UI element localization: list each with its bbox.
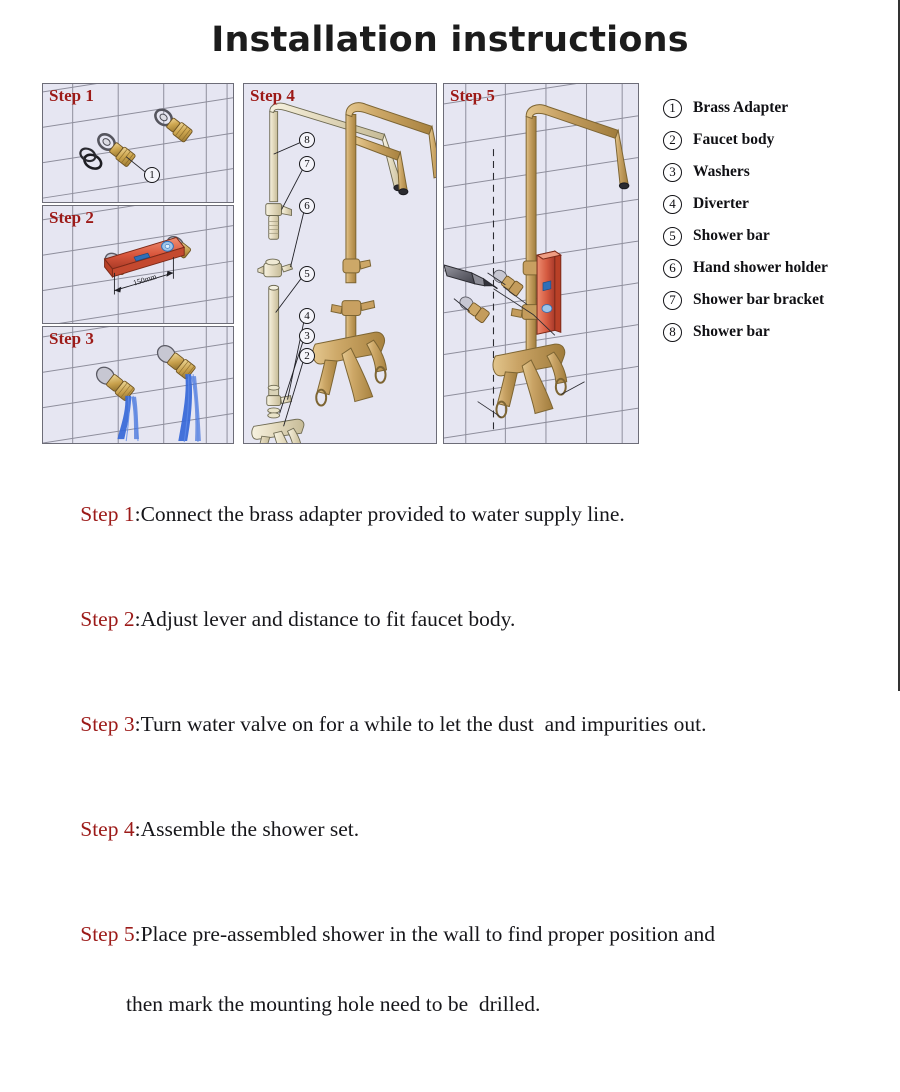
legend-label-6: Hand shower holder bbox=[693, 259, 828, 277]
callout-number-8: 8 bbox=[299, 132, 315, 148]
step-key-3: Step 3 bbox=[80, 712, 134, 736]
legend-item-5: 5 Shower bar bbox=[663, 220, 893, 252]
legend-number-3: 3 bbox=[663, 163, 682, 182]
step3-panel-label: Step 3 bbox=[49, 329, 94, 349]
legend-label-3: Washers bbox=[693, 163, 750, 181]
diagram-panel-step5: Step 5 bbox=[443, 83, 639, 444]
legend-item-2: 2 Faucet body bbox=[663, 124, 893, 156]
callout-number-7: 7 bbox=[299, 156, 315, 172]
legend-item-3: 3 Washers bbox=[663, 156, 893, 188]
diagram-panel-step4: Step 4 8 7 6 5 4 3 2 bbox=[243, 83, 437, 444]
legend-number-6: 6 bbox=[663, 259, 682, 278]
diagram-panel-step3: Step 3 bbox=[42, 326, 234, 444]
dimension-label: 150mm bbox=[132, 272, 158, 288]
page-title: Installation instructions bbox=[0, 20, 900, 60]
callout-number-4: 4 bbox=[299, 308, 315, 324]
legend-label-8: Shower bar bbox=[693, 323, 770, 341]
step-body-1: Connect the brass adapter provided to wa… bbox=[141, 502, 625, 526]
step-key-4: Step 4 bbox=[80, 817, 134, 841]
legend-item-8: 8 Shower bar bbox=[663, 316, 893, 348]
step4-panel-label: Step 4 bbox=[250, 86, 295, 106]
step-body-5: Place pre-assembled shower in the wall t… bbox=[141, 922, 715, 946]
step5-illustration bbox=[444, 84, 638, 443]
legend-number-1: 1 bbox=[663, 99, 682, 118]
step-instructions-list: Step 1:Connect the brass adapter provide… bbox=[48, 462, 868, 1092]
step-line-5: Step 5:Place pre-assembled shower in the… bbox=[48, 882, 868, 1092]
step5-panel-label: Step 5 bbox=[450, 86, 495, 106]
step4-illustration bbox=[244, 84, 436, 443]
step-key-2: Step 2 bbox=[80, 607, 134, 631]
step-line-4: Step 4:Assemble the shower set. bbox=[48, 777, 868, 882]
legend-number-5: 5 bbox=[663, 227, 682, 246]
diagram-panel-step2: 150mm Step 2 bbox=[42, 205, 234, 324]
callout-number-5: 5 bbox=[299, 266, 315, 282]
legend-number-4: 4 bbox=[663, 195, 682, 214]
installation-instructions-page: Installation instructions bbox=[0, 0, 898, 691]
step-line-2: Step 2:Adjust lever and distance to fit … bbox=[48, 567, 868, 672]
legend-item-4: 4 Diverter bbox=[663, 188, 893, 220]
legend-label-5: Shower bar bbox=[693, 227, 770, 245]
step-key-1: Step 1 bbox=[80, 502, 134, 526]
step-key-5: Step 5 bbox=[80, 922, 134, 946]
step-line-1: Step 1:Connect the brass adapter provide… bbox=[48, 462, 868, 567]
step-body-4: Assemble the shower set. bbox=[141, 817, 360, 841]
legend-number-8: 8 bbox=[663, 323, 682, 342]
legend-label-7: Shower bar bracket bbox=[693, 291, 824, 309]
step-body-3: Turn water valve on for a while to let t… bbox=[141, 712, 707, 736]
callout-number-6: 6 bbox=[299, 198, 315, 214]
step-body-2: Adjust lever and distance to fit faucet … bbox=[141, 607, 516, 631]
legend-label-4: Diverter bbox=[693, 195, 749, 213]
diagram-panel-step1: Step 1 1 bbox=[42, 83, 234, 203]
legend-label-2: Faucet body bbox=[693, 131, 774, 149]
legend-item-1: 1 Brass Adapter bbox=[663, 92, 893, 124]
step-line-3: Step 3:Turn water valve on for a while t… bbox=[48, 672, 868, 777]
callout-number-1: 1 bbox=[144, 167, 160, 183]
step1-panel-label: Step 1 bbox=[49, 86, 94, 106]
legend-label-1: Brass Adapter bbox=[693, 99, 788, 117]
parts-legend: 1 Brass Adapter 2 Faucet body 3 Washers … bbox=[663, 92, 893, 348]
callout-number-2: 2 bbox=[299, 348, 315, 364]
legend-item-6: 6 Hand shower holder bbox=[663, 252, 893, 284]
legend-number-7: 7 bbox=[663, 291, 682, 310]
step-body-5-continued: then mark the mounting hole need to be d… bbox=[48, 987, 868, 1022]
callout-number-3: 3 bbox=[299, 328, 315, 344]
legend-item-7: 7 Shower bar bracket bbox=[663, 284, 893, 316]
step2-panel-label: Step 2 bbox=[49, 208, 94, 228]
legend-number-2: 2 bbox=[663, 131, 682, 150]
